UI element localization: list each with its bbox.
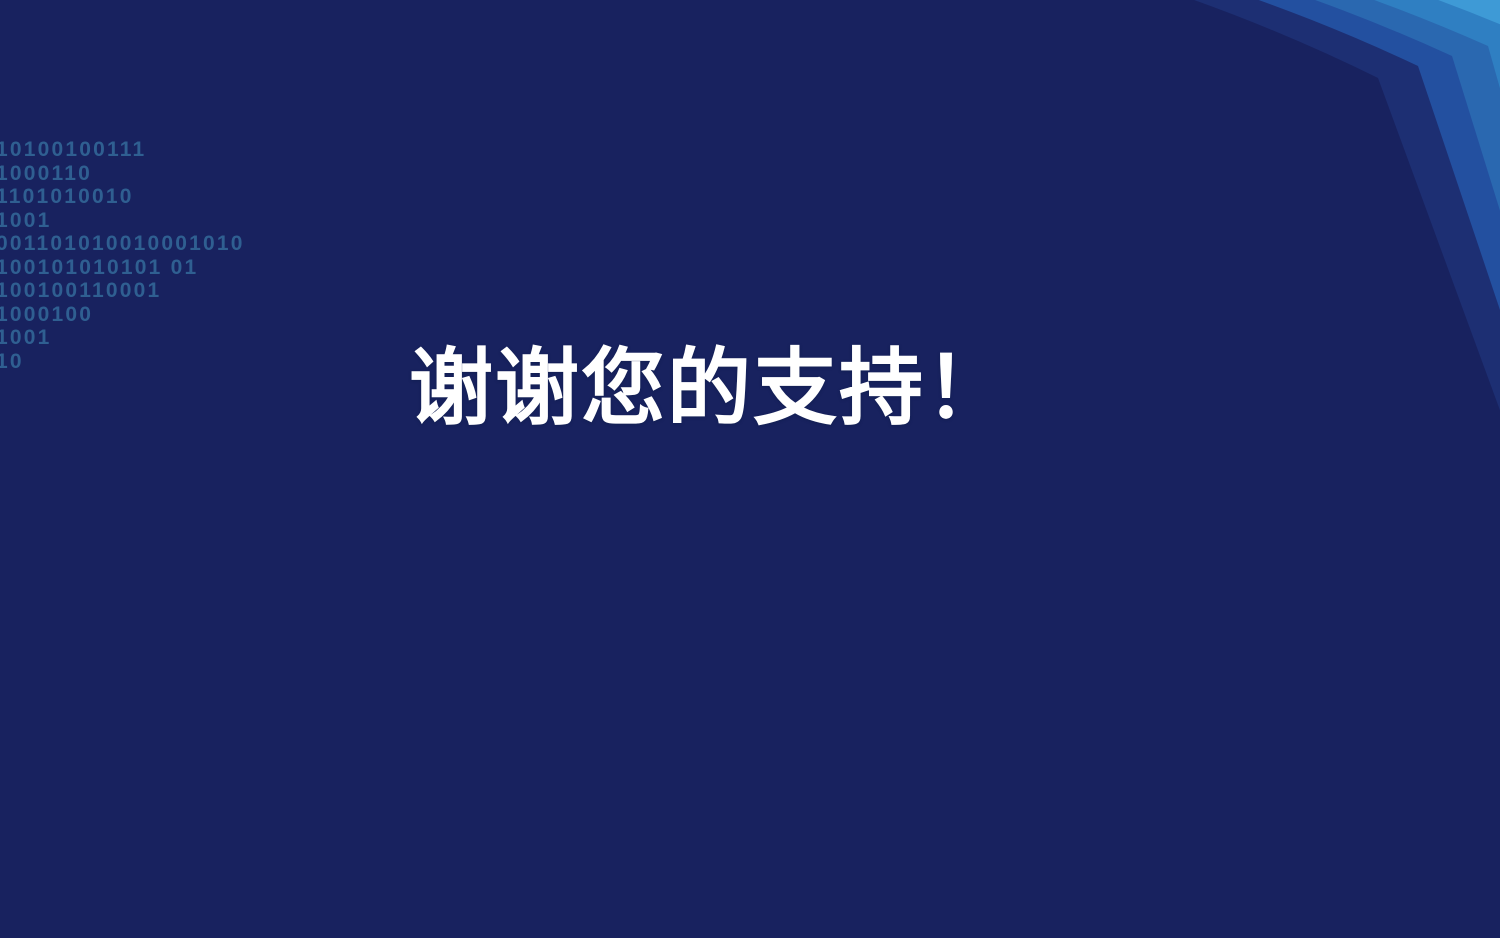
binary-line: 1000100: [0, 303, 245, 327]
binary-line: 1101010010: [0, 185, 245, 209]
slide-canvas: 1010010011110001101101010010100100110101…: [0, 0, 1500, 938]
binary-line: 10100100111: [0, 138, 245, 162]
binary-line: 1001: [0, 209, 245, 233]
binary-line: 100101010101 01: [0, 256, 245, 280]
binary-line: 1000110: [0, 162, 245, 186]
slide-title: 谢谢您的支持！: [0, 333, 1420, 443]
binary-line: 001101010010001010: [0, 232, 245, 256]
binary-line: 100100110001: [0, 279, 245, 303]
